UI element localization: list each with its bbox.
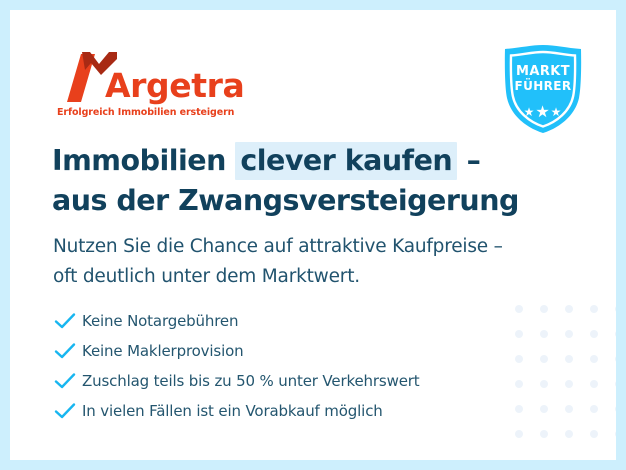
- dot: [565, 305, 573, 313]
- dot: [615, 330, 616, 338]
- page-title: Immobilien clever kaufen – aus der Zwang…: [52, 141, 572, 221]
- badge-stars: ★★★: [497, 102, 589, 122]
- dot: [565, 380, 573, 388]
- dot: [615, 380, 616, 388]
- dot-grid-decoration: [515, 305, 616, 450]
- dot: [540, 305, 548, 313]
- star-small-left: ★: [524, 105, 536, 119]
- promo-card-canvas: Argetra Erfolgreich Immobilien ersteiger…: [10, 10, 616, 460]
- market-leader-badge: MARKT FÜHRER ★★★: [497, 43, 589, 135]
- logo-wordmark: Argetra: [105, 66, 244, 105]
- subtitle-line-2: oft deutlich unter dem Marktwert.: [53, 262, 553, 292]
- dot: [565, 430, 573, 438]
- badge-text-block: MARKT FÜHRER: [497, 65, 589, 94]
- list-item-label: Zuschlag teils bis zu 50 % unter Verkehr…: [82, 372, 420, 390]
- check-icon: [54, 370, 82, 392]
- headline-line-1: Immobilien clever kaufen –: [52, 141, 572, 181]
- dot: [590, 380, 598, 388]
- dot: [565, 355, 573, 363]
- dot: [540, 430, 548, 438]
- dot: [565, 330, 573, 338]
- list-item-label: In vielen Fällen ist ein Vorabkauf mögli…: [82, 402, 383, 420]
- check-icon: [54, 310, 82, 332]
- list-item-label: Keine Notargebühren: [82, 312, 238, 330]
- dot: [615, 305, 616, 313]
- star-big-center: ★: [535, 104, 550, 121]
- dot: [565, 405, 573, 413]
- dot: [540, 405, 548, 413]
- dot: [590, 405, 598, 413]
- dot: [590, 355, 598, 363]
- benefits-checklist: Keine Notargebühren Keine Maklerprovisio…: [54, 306, 524, 426]
- dot: [540, 380, 548, 388]
- star-small-right: ★: [551, 105, 563, 119]
- list-item: Keine Maklerprovision: [54, 336, 524, 366]
- subtitle-line-1: Nutzen Sie die Chance auf attraktive Kau…: [53, 232, 553, 262]
- headline-line-2: aus der Zwangsversteigerung: [52, 181, 572, 221]
- dot: [540, 330, 548, 338]
- badge-line-2: FÜHRER: [497, 79, 589, 94]
- dot: [615, 405, 616, 413]
- check-icon: [54, 400, 82, 422]
- brand-logo[interactable]: Argetra Erfolgreich Immobilien ersteiger…: [55, 45, 255, 125]
- dot: [515, 430, 523, 438]
- list-item-label: Keine Maklerprovision: [82, 342, 243, 360]
- list-item: In vielen Fällen ist ein Vorabkauf mögli…: [54, 396, 524, 426]
- dot: [590, 330, 598, 338]
- page-subtitle: Nutzen Sie die Chance auf attraktive Kau…: [53, 232, 553, 292]
- dot: [590, 430, 598, 438]
- list-item: Keine Notargebühren: [54, 306, 524, 336]
- dot: [590, 305, 598, 313]
- logo-tagline: Erfolgreich Immobilien ersteigern: [57, 107, 234, 118]
- dot: [540, 355, 548, 363]
- promo-card-frame: Argetra Erfolgreich Immobilien ersteiger…: [0, 0, 626, 470]
- headline-prefix: Immobilien: [52, 144, 235, 177]
- headline-highlight: clever kaufen: [235, 142, 457, 180]
- list-item: Zuschlag teils bis zu 50 % unter Verkehr…: [54, 366, 524, 396]
- badge-line-1: MARKT: [497, 65, 589, 79]
- dot: [615, 355, 616, 363]
- headline-suffix: –: [457, 144, 480, 177]
- check-icon: [54, 340, 82, 362]
- dot: [615, 430, 616, 438]
